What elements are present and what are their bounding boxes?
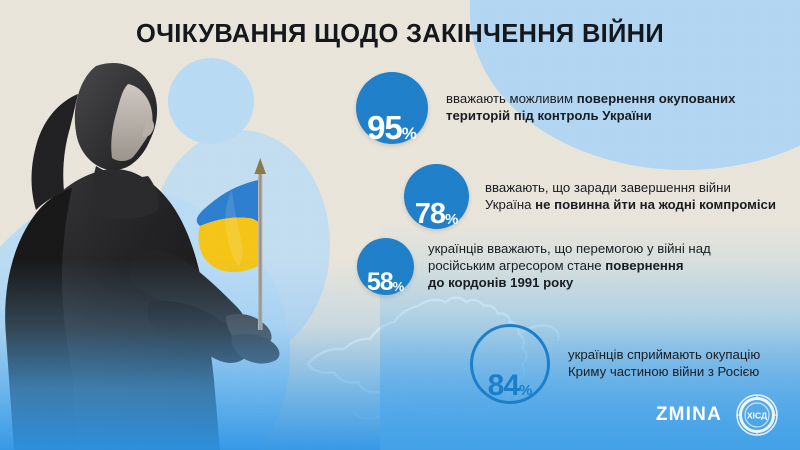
kiis-seal-logo[interactable]: ХІСД [736,394,778,436]
stat-value-84: 84 [488,371,519,401]
stat-line-segment: Україна [485,197,535,212]
stat-bubble-95: 95% [356,72,428,144]
stat-value-95: 95 [367,111,402,144]
zmina-logo[interactable]: ZMINA [656,404,722,426]
stat-row-84: 84% українців сприймають окупацію Криму … [470,324,760,404]
stat-line-segment: вважають можливим [446,91,577,106]
percent-symbol-84: % [519,383,532,401]
stat-bubble-84: 84% [470,324,550,404]
infographic-canvas: ОЧІКУВАННЯ ЩОДО ЗАКІНЧЕННЯ ВІЙНИ 95% вва… [0,0,800,450]
stat-line-segment: українців сприймають окупацію [568,347,760,362]
page-title: ОЧІКУВАННЯ ЩОДО ЗАКІНЧЕННЯ ВІЙНИ [0,20,800,49]
stat-row-78: 78% вважають, що заради завершення війни… [404,164,776,229]
stat-text-58: українців вважають, що перемогою у війні… [428,241,711,292]
stat-text-95: вважають можливим повернення окупованих … [446,91,735,125]
stat-line-segment-bold: повернення окупованих [577,91,736,106]
stat-bubble-58: 58% [357,238,414,295]
percent-symbol-95: % [402,125,417,144]
stat-value-58: 58 [367,270,393,295]
stat-text-84: українців сприймають окупацію Криму част… [568,347,760,381]
stat-line-segment-bold: до кордонів 1991 року [428,275,573,290]
stat-line-segment: Криму частиною війни з Росією [568,364,759,379]
stat-line-segment-bold: не повинна йти на жодні компроміси [535,197,776,212]
stat-line-segment-bold: територій під контроль України [446,108,652,123]
percent-symbol-58: % [393,280,405,295]
stat-text-78: вважають, що заради завершення війни Укр… [485,180,776,214]
stat-line-segment: російським агресором стане [428,258,605,273]
stat-value-78: 78 [415,200,445,229]
stat-bubble-78: 78% [404,164,469,229]
percent-symbol-78: % [445,212,458,229]
stat-row-58: 58% українців вважають, що перемогою у в… [357,238,711,295]
stat-line-segment-bold: повернення [605,258,683,273]
kiis-seal-text: ХІСД [747,411,767,421]
stat-line-segment: українців вважають, що перемогою у війні… [428,241,711,256]
stat-line-segment: вважають, що заради завершення війни [485,180,731,195]
logo-group: ZMINA ХІСД [656,394,778,436]
stat-row-95: 95% вважають можливим повернення окупова… [356,72,735,144]
